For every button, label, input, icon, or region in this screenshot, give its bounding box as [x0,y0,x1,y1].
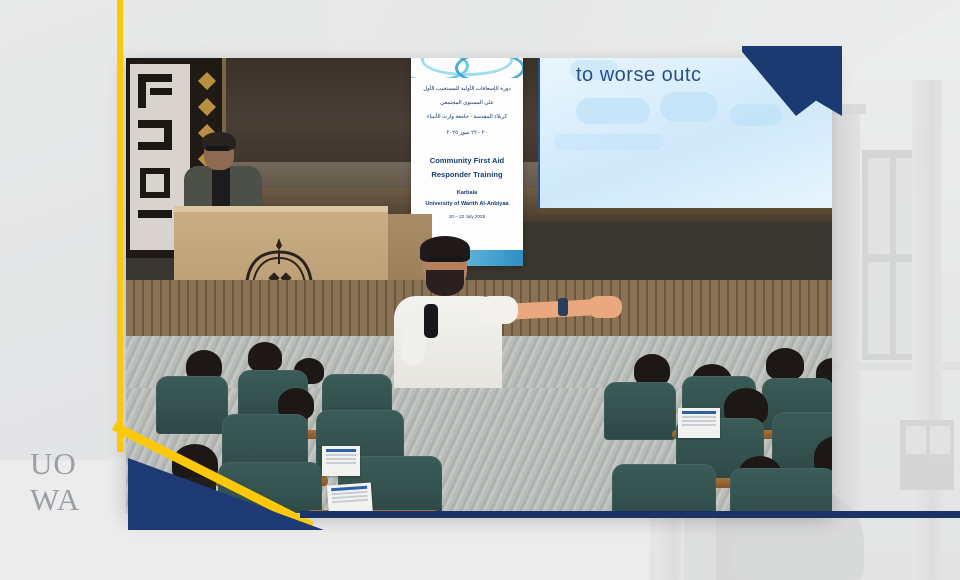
banner-title-line-2: Responder Training [411,170,523,179]
banner-arabic-line-3: كربلاء المقدسة - جامعة وارث الأنبياء [411,114,523,120]
navy-horizontal-rule [300,511,960,518]
banner-arabic-line-2: على المستوى المجتمعي [411,100,523,106]
auditorium-seat [730,468,832,513]
auditorium-seat [604,382,676,440]
banner-title-line-1: Community First Aid [411,156,523,165]
microphone [424,304,438,338]
banner-university: University of Warith Al-Anbiyaa [411,201,523,207]
presenter-wristwatch [558,298,568,316]
banner-arabic-line-1: دورة الإسعافات الأولية للمستجيب الأول [411,86,523,92]
auditorium-seat [612,464,716,513]
logo-line-2: WA [30,484,116,515]
uowa-logo: UO WA [30,448,116,526]
audience-head [248,342,282,372]
banner-arabic-line-4: ٢٠ - ٢٢ تموز ٢٠٢٥ [411,130,523,136]
banner-city: Karbala [411,190,523,196]
logo-line-1: UO [30,448,116,479]
presenter-pointing-hand [588,296,622,318]
audience-head [766,348,804,380]
projector-screen-text: to worse outc [576,64,701,87]
presenter-glasses [427,256,463,262]
seated-speaker-glasses [206,146,230,151]
handout-paper [678,408,720,438]
news-card: دورة الإسعافات الأولية للمستجيب الأول عل… [0,0,960,580]
yellow-vertical-accent [117,0,123,452]
